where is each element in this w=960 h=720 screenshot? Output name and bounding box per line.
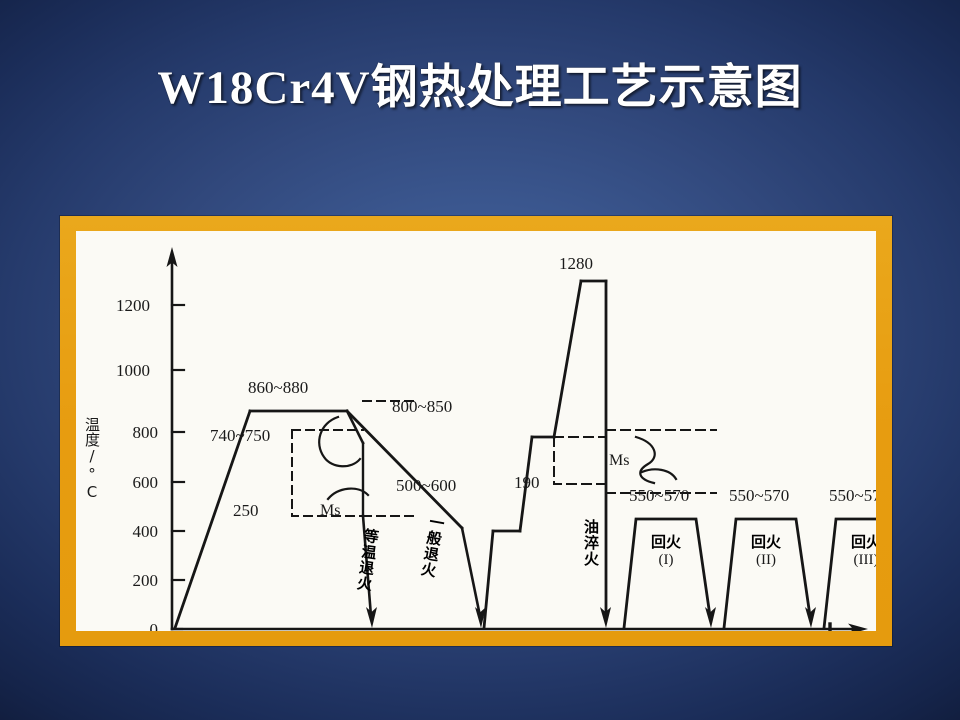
annotation-isothermal-low: 250: [233, 502, 259, 519]
process-label-temper-1: 回火: [636, 531, 696, 552]
annotation-general-anneal-to: 500~600: [396, 477, 456, 494]
annotation-temper2-temp: 550~570: [729, 487, 789, 504]
process-label-temper-1-num: (I): [636, 553, 696, 568]
annotation-anneal-ms: Ms: [320, 503, 340, 519]
annotation-anneal-cool-to: 740~750: [210, 427, 270, 444]
y-axis-title: 温度/°C: [82, 417, 103, 501]
process-label-temper-2: 回火: [736, 531, 796, 552]
figure-frame: 0 200 400 600 800 1000 1200 温度/°C 860~88…: [60, 216, 892, 646]
page-title: W18Cr4V钢热处理工艺示意图: [0, 48, 960, 117]
annotation-preheat-second: 800~850: [392, 398, 452, 415]
process-label-temper-3-num: (III): [836, 553, 876, 568]
process-label-oil-quench: 油淬火: [581, 519, 602, 567]
annotation-temper3-temp: 550~570: [829, 487, 876, 504]
y-tick-label-800: 800: [104, 424, 158, 441]
annotation-temper1-temp: 550~570: [629, 487, 689, 504]
annotation-anneal-hold: 860~880: [248, 379, 308, 396]
temper-3-layer: [76, 231, 876, 631]
y-tick-label-400: 400: [104, 523, 158, 540]
figure-panel: 0 200 400 600 800 1000 1200 温度/°C 860~88…: [76, 231, 876, 631]
process-label-temper-3: 回火: [836, 531, 876, 552]
y-tick-label-0: 0: [104, 621, 158, 631]
y-tick-label-600: 600: [104, 474, 158, 491]
annotation-quench-peak: 1280: [559, 255, 593, 272]
y-tick-label-1200: 1200: [96, 297, 150, 314]
y-tick-label-200: 200: [104, 572, 158, 589]
annotation-quench-stop: 190: [514, 474, 540, 491]
annotation-quench-ms: Ms: [609, 453, 629, 469]
process-label-temper-2-num: (II): [736, 553, 796, 568]
slide-canvas: W18Cr4V钢热处理工艺示意图: [0, 0, 960, 720]
y-tick-label-1000: 1000: [96, 362, 150, 379]
